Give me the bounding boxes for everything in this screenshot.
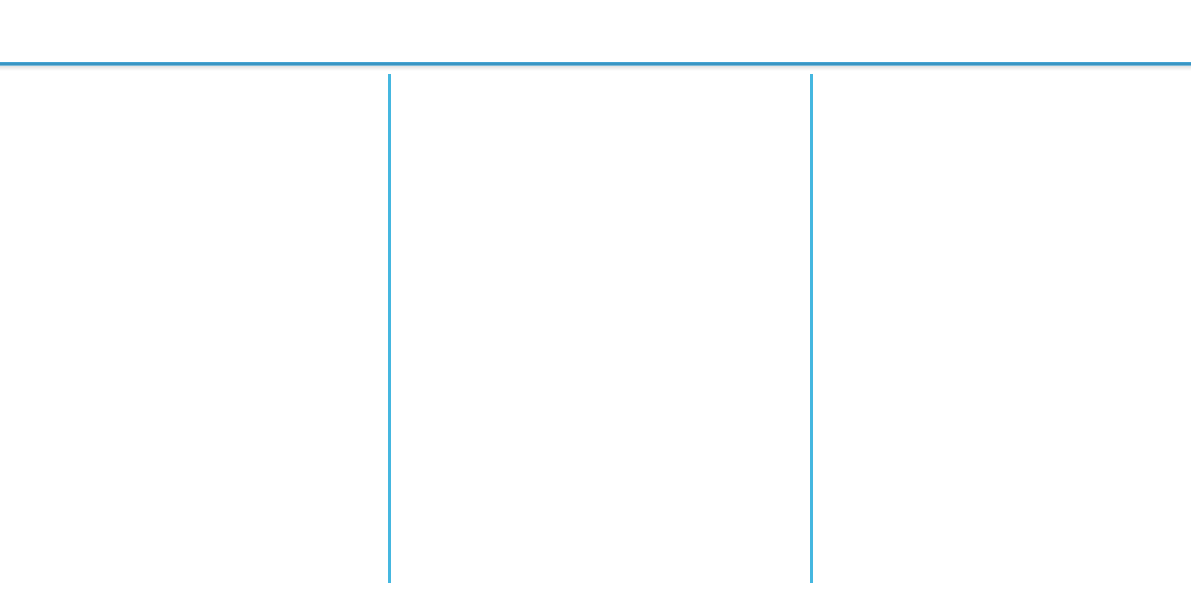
column-revenue-by-segment [0,74,388,596]
donut-chart-geography [813,86,1191,446]
slide-root [0,0,1191,596]
donut-chart-project [391,86,810,458]
column-revenue-by-project [391,74,810,596]
header-rule-shadow [0,66,1191,71]
chart-title-geography [813,74,1191,86]
column-revenue-by-geography [813,74,1191,596]
donut-chart-segment [0,86,388,458]
chart-title-project [391,74,810,86]
chart-title-segment [0,74,388,86]
